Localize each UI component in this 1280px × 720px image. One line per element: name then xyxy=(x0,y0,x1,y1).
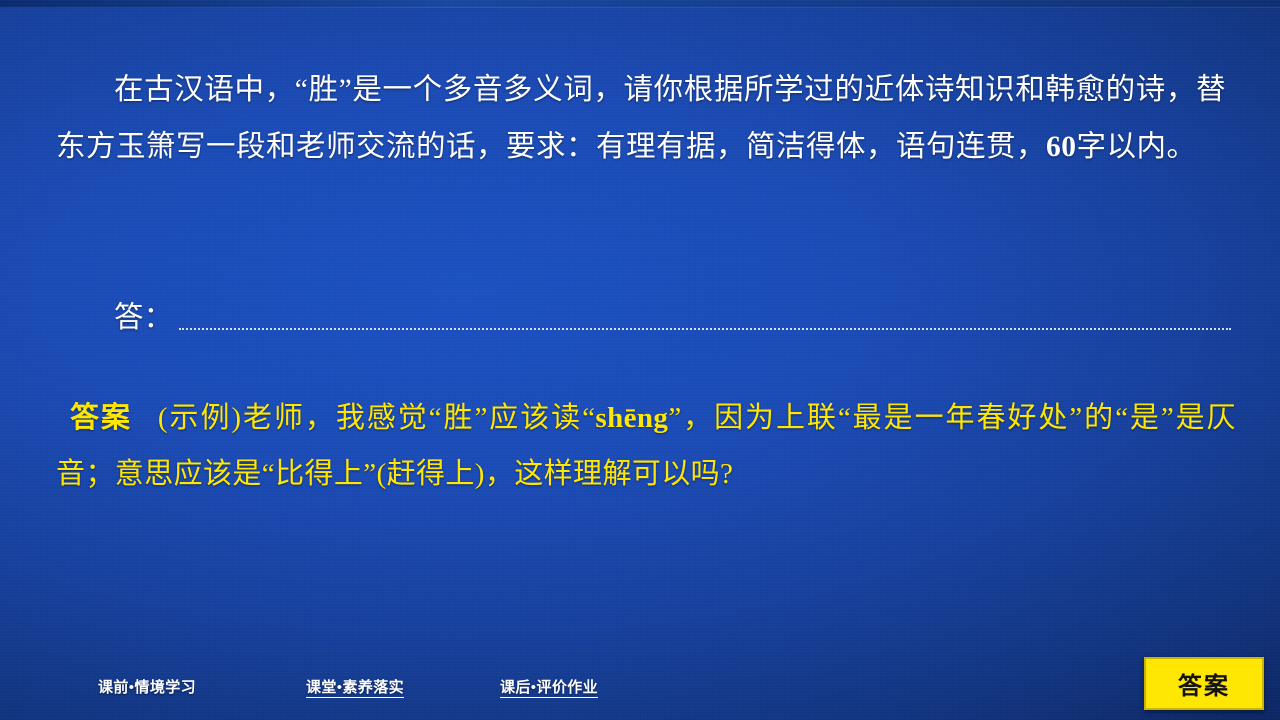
footer-item-pre-class-label: 课前•情境学习 xyxy=(98,680,196,696)
footer-item-pre-class[interactable]: 课前•情境学习 xyxy=(98,676,196,697)
answer-body-text: (示例)老师，我感觉“胜”应该读“shēng”，因为上联“最是一年春好处”的“是… xyxy=(56,402,1236,490)
slide-content: 在古汉语中，“胜”是一个多音多义词，请你根据所学过的近体诗知识和韩愈的诗，替东方… xyxy=(0,0,1280,720)
footer-item-post-class-label: 课后•评价作业 xyxy=(500,680,598,698)
footer-item-in-class-label: 课堂•素养落实 xyxy=(306,680,404,698)
footer-nav: 课前•情境学习 课堂•素养落实 课后•评价作业 xyxy=(0,676,1280,702)
answer-paragraph: 答案(示例)老师，我感觉“胜”应该读“shēng”，因为上联“最是一年春好处”的… xyxy=(56,390,1236,502)
answer-tag-label: 答案 xyxy=(70,402,132,434)
question-paragraph: 在古汉语中，“胜”是一个多音多义词，请你根据所学过的近体诗知识和韩愈的诗，替东方… xyxy=(56,62,1226,176)
show-answer-button-label: 答案 xyxy=(1178,666,1230,701)
answer-prompt-label: 答： xyxy=(114,295,173,341)
show-answer-button[interactable]: 答案 xyxy=(1144,657,1264,710)
answer-input-row: 答： xyxy=(56,285,1231,341)
footer-item-in-class[interactable]: 课堂•素养落实 xyxy=(306,676,404,697)
slide-canvas: 在古汉语中，“胜”是一个多音多义词，请你根据所学过的近体诗知识和韩愈的诗，替东方… xyxy=(0,0,1280,720)
dotted-answer-line xyxy=(179,326,1231,330)
footer-item-post-class[interactable]: 课后•评价作业 xyxy=(500,676,598,697)
